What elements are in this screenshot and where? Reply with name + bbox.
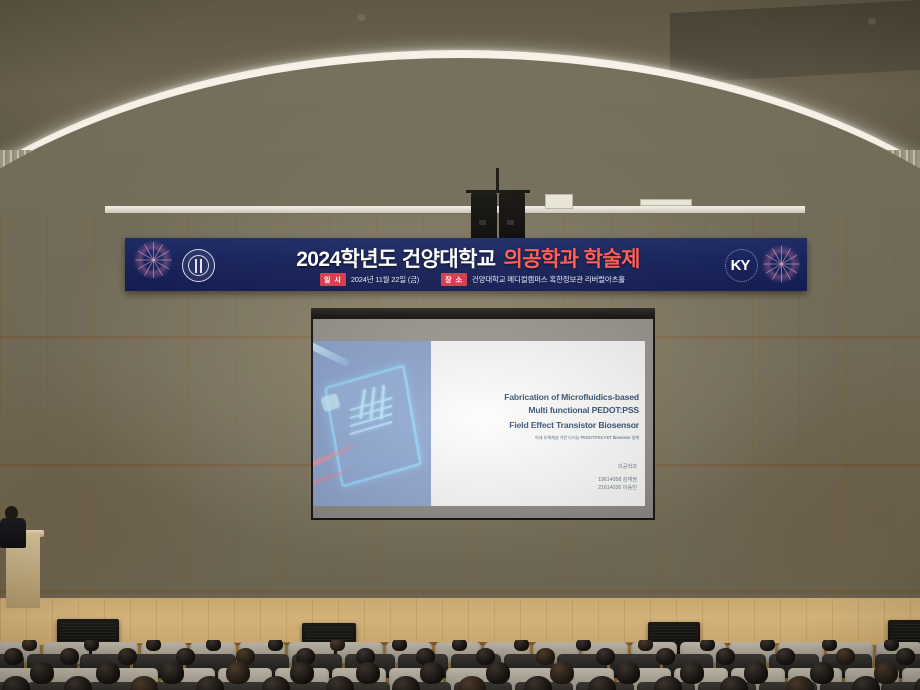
audience-head xyxy=(884,640,899,651)
banner-date-value: 2024년 11월 22일 (금) xyxy=(351,274,419,285)
ky-logo-icon: KY xyxy=(717,250,763,280)
audience-head xyxy=(656,648,675,665)
banner-title-white: 2024학년도 건양대학교 xyxy=(296,243,495,273)
firework-graphic-left xyxy=(133,240,173,280)
emblem-bar-a xyxy=(195,259,197,273)
audience-head xyxy=(118,648,137,665)
speaker-port-left xyxy=(479,220,486,225)
banner-place-tag: 장 소 xyxy=(441,273,467,286)
audience-head xyxy=(680,662,704,684)
banner-place-value: 건양대학교 메디컬캠퍼스 혹한정보관 리버럴아츠홀 xyxy=(472,274,625,285)
audience-head xyxy=(330,640,345,651)
audience-head xyxy=(716,648,735,665)
hanging-speaker-cluster xyxy=(470,182,526,242)
ledge-box-right xyxy=(640,199,692,206)
audience-head xyxy=(4,648,23,665)
audience-head xyxy=(550,662,574,684)
presenter-torso xyxy=(0,518,26,548)
audience-head xyxy=(268,640,283,651)
event-banner: 2024학년도 건양대학교 의공학과 학술제 일 시 2024년 11월 22일… xyxy=(125,238,807,291)
audience-head xyxy=(896,648,915,665)
speaker-box-left xyxy=(471,193,497,240)
auditorium-scene: 2024학년도 건양대학교 의공학과 학술제 일 시 2024년 11월 22일… xyxy=(0,0,920,690)
slide-title-line-1: Fabrication of Microfluidics-based xyxy=(439,391,639,404)
audience-head xyxy=(226,662,250,684)
audience-head xyxy=(776,648,795,665)
slide-department: 의공학과 xyxy=(618,463,637,470)
audience-head xyxy=(576,640,591,651)
audience-head xyxy=(514,640,529,651)
audience-head xyxy=(810,662,834,684)
presentation-slide: Fabrication of Microfluidics-based Multi… xyxy=(313,341,645,506)
slide-author-1: 19614058 김재권 xyxy=(598,477,637,485)
audience-head xyxy=(744,662,768,684)
slide-title-line-2: Multi functional PEDOT:PSS xyxy=(439,404,639,417)
audience-head xyxy=(96,662,120,684)
audience-head xyxy=(176,648,195,665)
firework-spoke xyxy=(764,264,782,265)
audience-head xyxy=(160,662,184,684)
audience-head xyxy=(290,662,314,684)
audience-head xyxy=(356,662,380,684)
ky-logo-ring xyxy=(725,249,758,282)
slide-subtitle-korean: 미세 유체채널 기반 다기능 PEDOT:PSS FET Biosensor 설… xyxy=(439,435,639,441)
audience-head xyxy=(822,640,837,651)
banner-title-red: 의공학과 학술제 xyxy=(504,243,640,273)
ceiling-fixture-2 xyxy=(868,18,876,25)
emblem-bar-b xyxy=(200,259,202,273)
audience-head xyxy=(206,640,221,651)
ceiling-fixture-1 xyxy=(357,14,366,21)
audience-head xyxy=(60,648,79,665)
speaker-hang-rod xyxy=(496,168,499,192)
ledge-box-left xyxy=(545,194,573,209)
audience-head xyxy=(700,640,715,651)
university-seal-emblem-icon xyxy=(182,249,215,282)
audience-head xyxy=(536,648,555,665)
pipette-icon xyxy=(313,342,350,368)
audience-head xyxy=(452,640,467,651)
audience-head xyxy=(616,662,640,684)
audience-head xyxy=(30,662,54,684)
slide-author-2: 21614036 이승민 xyxy=(598,485,637,493)
audience-head xyxy=(146,640,161,651)
screen-valance xyxy=(311,308,655,317)
audience-head xyxy=(392,640,407,651)
banner-trim-bottom xyxy=(125,287,807,291)
slide-title-line-3: Field Effect Transistor Biosensor xyxy=(439,419,639,432)
screen-surface: Fabrication of Microfluidics-based Multi… xyxy=(313,319,653,518)
banner-date-tag: 일 시 xyxy=(320,273,346,286)
speaker-port-right xyxy=(507,220,514,225)
slide-title: Fabrication of Microfluidics-based Multi… xyxy=(439,391,639,432)
banner-subinfo: 일 시 2024년 11월 22일 (금) 장 소 건양대학교 메디컬캠퍼스 혹… xyxy=(320,273,740,286)
audience-head xyxy=(596,648,615,665)
slide-text-area: Fabrication of Microfluidics-based Multi… xyxy=(431,341,645,506)
firework-spoke xyxy=(136,260,154,261)
audience-head xyxy=(486,662,510,684)
projection-screen: Fabrication of Microfluidics-based Multi… xyxy=(311,308,655,520)
audience-head xyxy=(22,640,37,651)
audience-head xyxy=(638,640,653,651)
audience-area xyxy=(0,640,920,690)
slide-authors: 19614058 김재권 21614036 이승민 xyxy=(598,477,637,492)
banner-trim-top xyxy=(125,238,807,242)
ceiling-recess-panel xyxy=(670,0,920,83)
speaker-box-right xyxy=(499,193,525,240)
audience-head xyxy=(84,640,99,651)
audience-head xyxy=(836,648,855,665)
presenter-standing xyxy=(0,506,26,546)
firework-graphic-right xyxy=(761,244,801,284)
wall-ledge xyxy=(105,206,805,213)
slide-illustration xyxy=(313,341,431,506)
banner-headline: 2024학년도 건양대학교 의공학과 학술제 xyxy=(243,244,693,272)
audience-head xyxy=(760,640,775,651)
audience-head xyxy=(420,662,444,684)
